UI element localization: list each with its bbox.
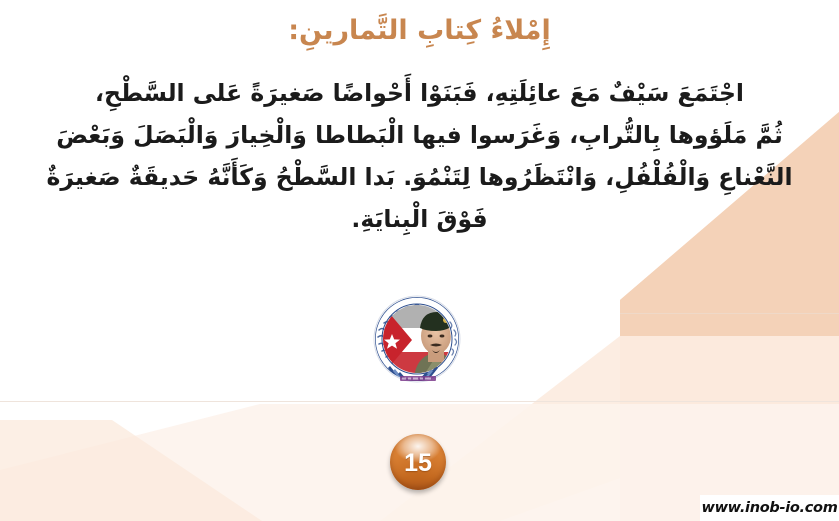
page-number-value: 15: [404, 451, 432, 476]
pale-peach-block: [620, 336, 839, 521]
page-title: إِمْلاءُ كِتابِ التَّمارينِ:: [0, 14, 839, 48]
royal-portrait-emblem-icon: [362, 294, 472, 392]
paragraph-line-4: فَوْقَ الْبِنايَةِ.: [34, 198, 805, 240]
watermark: www.inob-io.com: [700, 495, 839, 521]
hairline-divider: [0, 401, 839, 402]
body-paragraph: اجْتَمَعَ سَيْفٌ مَعَ عائِلَتِهِ، فَبَنَ…: [34, 72, 805, 240]
paragraph-line-3: النَّعْناعِ وَالْفُلْفُلِ، وَانْتَظَرُوه…: [34, 156, 805, 198]
paragraph-line-1: اجْتَمَعَ سَيْفٌ مَعَ عائِلَتِهِ، فَبَنَ…: [34, 72, 805, 114]
paragraph-line-2: ثُمَّ مَلَؤوها بِالتُّرابِ، وَغَرَسوا في…: [34, 114, 805, 156]
bottom-left-wedge: [0, 420, 262, 521]
hairline-divider-right: [620, 313, 839, 314]
slide-canvas: إِمْلاءُ كِتابِ التَّمارينِ: اجْتَمَعَ س…: [0, 0, 839, 521]
watermark-url: www.inob-io.com: [701, 500, 837, 516]
page-number-badge: 15: [390, 434, 446, 490]
